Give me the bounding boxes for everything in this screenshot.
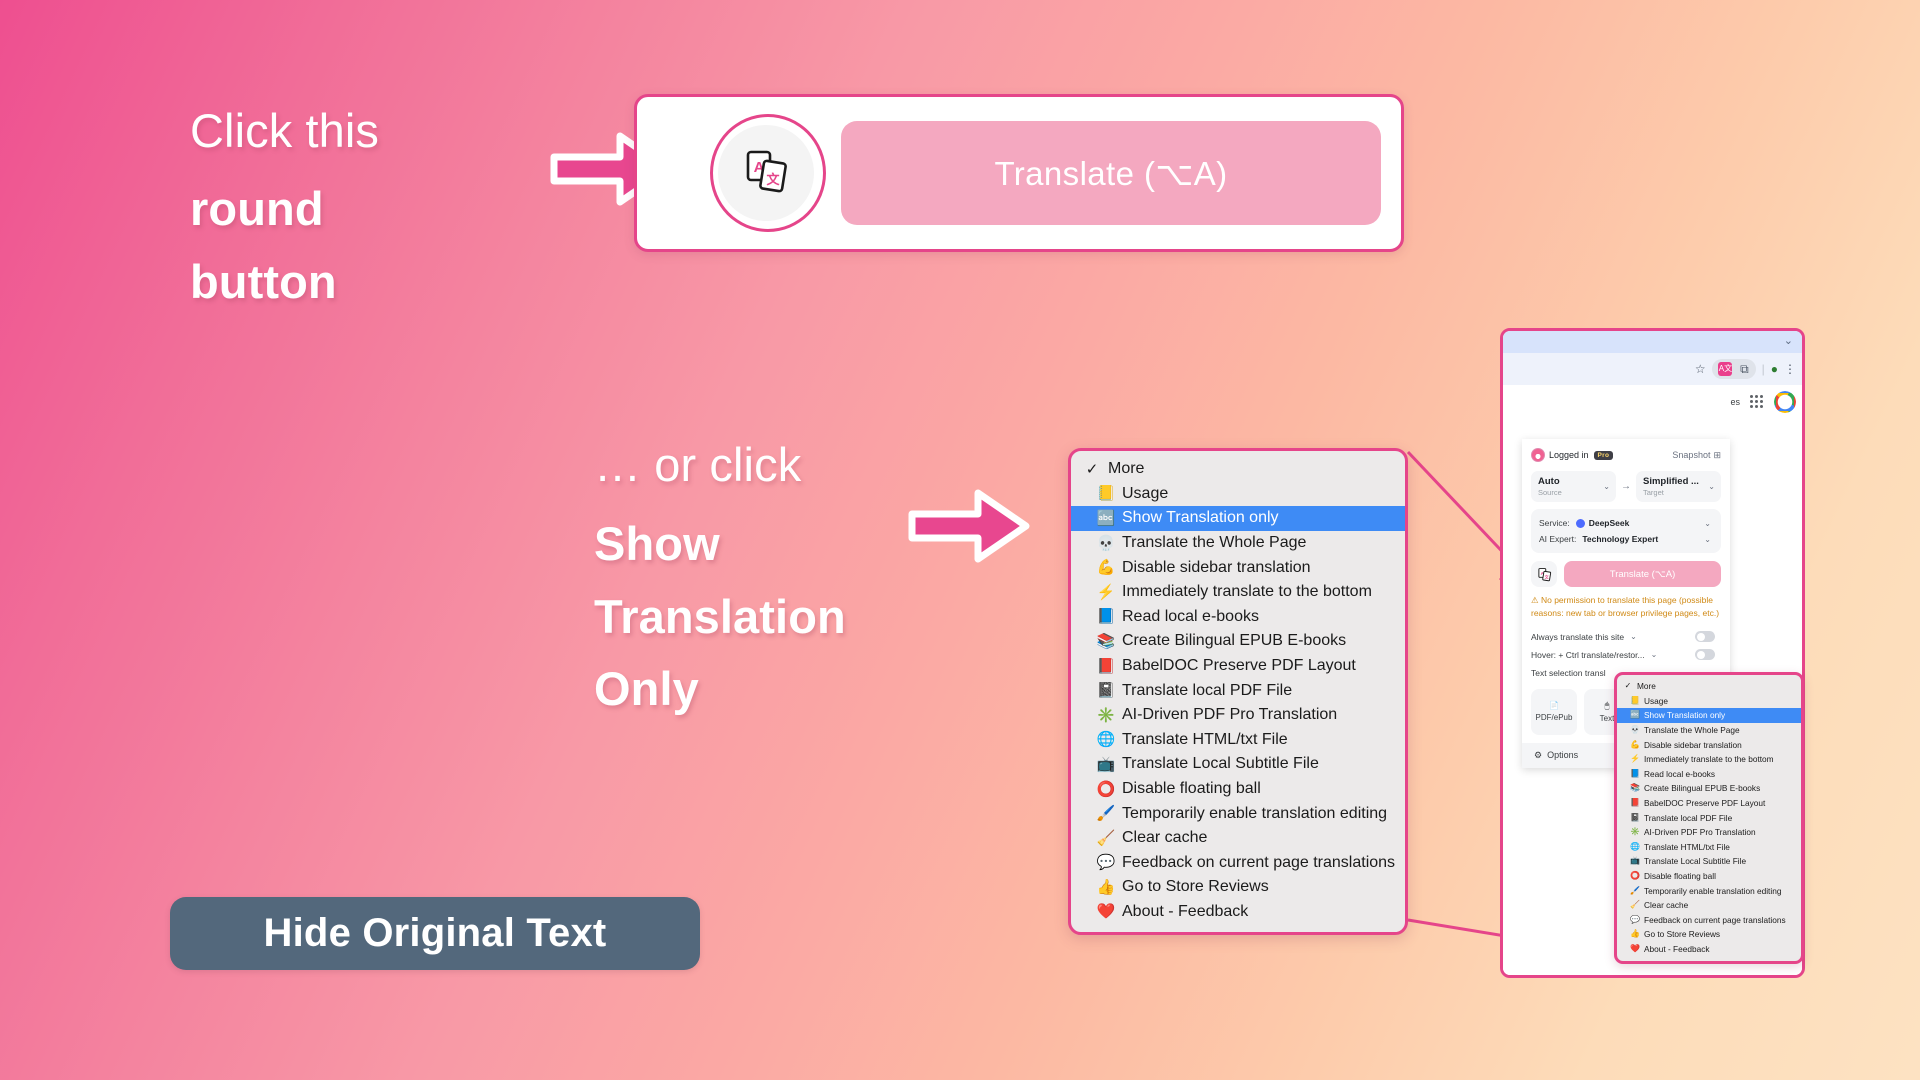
translate-extension-icon[interactable]: A文 [1718,362,1732,376]
avatar [1531,448,1545,462]
hover-translate-toggle[interactable] [1695,649,1715,660]
context-menu-item-12[interactable]: ⭕Disable floating ball [1071,777,1405,802]
menu-item-label: Read local e-books [1122,608,1259,626]
context-menu-item-9[interactable]: ✳️AI-Driven PDF Pro Translation [1071,703,1405,728]
menu-item-icon: 📚 [1629,784,1641,792]
text-selection-label: Text selection transl [1531,668,1606,678]
context-menu-item-6[interactable]: 📚Create Bilingual EPUB E-books [1071,629,1405,654]
svg-text:文: 文 [766,172,780,187]
context-menu-mini-item-11[interactable]: 📺Translate Local Subtitle File [1617,854,1801,869]
context-menu-item-13[interactable]: 🖌️Temporarily enable translation editing [1071,801,1405,826]
context-menu-mini-item-15[interactable]: 💬Feedback on current page translations [1617,913,1801,928]
menu-item-icon: 🧹 [1095,831,1117,846]
callout-one: Click this round button [190,106,379,307]
menu-item-label: BabelDOC Preserve PDF Layout [1122,657,1356,675]
context-menu-mini-item-1[interactable]: 🔤Show Translation only [1617,708,1801,723]
show-translation-round-button[interactable]: A 文 [718,125,814,221]
pdf-epub-label: PDF/ePub [1536,713,1573,722]
permission-warning-text: ⚠ No permission to translate this page (… [1531,594,1721,620]
ai-expert-value: Technology Expert [1582,534,1658,544]
target-language-label: Target [1643,488,1714,497]
chevron-down-icon: ⌄ [1708,482,1715,491]
menu-item-label: Show Translation only [1122,509,1279,527]
ai-expert-key: AI Expert: [1539,534,1576,544]
extension-pill[interactable]: A文 ⧉ [1712,359,1756,379]
menu-item-icon: 💬 [1095,855,1117,870]
menu-item-icon: 💀 [1095,536,1117,551]
context-menu-mini-item-6[interactable]: 📚Create Bilingual EPUB E-books [1617,781,1801,796]
context-menu-mini-item-5[interactable]: 📘Read local e-books [1617,767,1801,782]
gear-icon: ⚙ [1534,750,1542,761]
google-account-circle[interactable] [1774,391,1796,413]
source-language-label: Source [1538,488,1609,497]
menu-item-icon: 💪 [1629,741,1641,749]
menu-item-icon: ✳️ [1095,708,1117,723]
chevron-down-icon[interactable]: ⌄ [1784,334,1793,347]
popup-translate-row: A 文 Translate (⌥A) [1531,561,1721,587]
translate-icon: A 文 [742,147,790,200]
target-language-value: Simplified ... [1643,476,1714,487]
service-settings-box: Service: DeepSeek ⌄ AI Expert: Technolog… [1531,509,1721,553]
menu-item-icon: ⚡ [1095,585,1117,600]
context-menu-mini-item-16[interactable]: 👍Go to Store Reviews [1617,927,1801,942]
menu-item-label: Go to Store Reviews [1644,929,1720,939]
puzzle-icon[interactable]: ⧉ [1740,363,1749,375]
callout-two: … or click Show Translation Only [594,440,846,715]
check-icon: ✓ [1622,682,1634,690]
browser-toolbar: ☆ A文 ⧉ | ● ⋮ [1503,353,1802,385]
chevron-down-icon: ⌄ [1651,650,1658,659]
browser-titlebar: ⌄ [1503,331,1802,353]
service-key: Service: [1539,518,1570,528]
callout-one-line2: round [190,184,379,235]
chevron-down-icon: ⌄ [1603,482,1610,491]
service-value: DeepSeek [1589,518,1630,528]
menu-item-label: Create Bilingual EPUB E-books [1122,632,1346,650]
menu-item-label: Translate Local Subtitle File [1122,755,1319,773]
menu-item-icon: 📒 [1095,486,1117,501]
context-menu-item-16[interactable]: 👍Go to Store Reviews [1071,875,1405,900]
source-language-select[interactable]: Auto Source ⌄ [1531,471,1616,502]
menu-item-label: Immediately translate to the bottom [1644,754,1774,764]
context-menu-mini-item-2[interactable]: 💀Translate the Whole Page [1617,723,1801,738]
menu-item-icon: 👍 [1629,930,1641,938]
context-menu-mini-header: ✓ More [1617,679,1801,694]
context-menu-mini-item-8[interactable]: 📓Translate local PDF File [1617,810,1801,825]
page-label: es [1730,397,1740,407]
callout-one-line3: button [190,257,379,308]
service-select[interactable]: Service: DeepSeek ⌄ [1539,515,1713,531]
context-menu-item-17[interactable]: ❤️About - Feedback [1071,900,1405,925]
menu-item-label: BabelDOC Preserve PDF Layout [1644,798,1765,808]
chevron-down-icon: ⌄ [1630,632,1637,641]
translate-icon: A 文 [1537,567,1552,582]
chevron-down-icon: ⌄ [1704,535,1711,544]
menu-item-label: Feedback on current page translations [1122,854,1395,872]
menu-item-label: Temporarily enable translation editing [1644,886,1781,896]
overflow-menu-icon[interactable]: ⋮ [1784,363,1796,375]
hide-original-text-pill: Hide Original Text [170,897,700,970]
translate-toolbar-card: A 文 Translate (⌥A) [634,94,1404,252]
options-label: Options [1547,750,1578,760]
menu-item-label: Temporarily enable translation editing [1122,805,1387,823]
round-button-wrapper: A 文 [707,114,825,232]
menu-item-icon: 💀 [1629,726,1641,734]
menu-item-icon: 📺 [1629,857,1641,865]
bookmark-star-icon[interactable]: ☆ [1695,363,1706,375]
apps-grid-icon[interactable] [1750,395,1764,409]
context-menu-header-label: More [1108,460,1144,478]
context-menu-item-0[interactable]: 📒Usage [1071,482,1405,507]
menu-item-label: Clear cache [1122,829,1207,847]
hover-translate-row[interactable]: Hover: + Ctrl translate/restor... ⌄ [1531,646,1721,664]
menu-item-label: Read local e-books [1644,769,1715,779]
always-translate-toggle[interactable] [1695,631,1715,642]
page-header-right: es [1730,391,1796,413]
context-menu-mini-item-0[interactable]: 📒Usage [1617,694,1801,709]
ai-expert-select[interactable]: AI Expert: Technology Expert ⌄ [1539,531,1713,547]
callout-two-line2: Show [594,519,846,570]
profile-icon[interactable]: ● [1771,363,1778,375]
menu-item-icon: 📕 [1629,799,1641,807]
context-menu-mini-item-9[interactable]: ✳️AI-Driven PDF Pro Translation [1617,825,1801,840]
menu-item-label: Immediately translate to the bottom [1122,583,1372,601]
pointer-arrow-two [910,490,1028,562]
menu-item-icon: 💪 [1095,560,1117,575]
menu-item-label: Go to Store Reviews [1122,878,1269,896]
context-menu-item-1[interactable]: 🔤Show Translation only [1071,506,1405,531]
context-menu-item-2[interactable]: 💀Translate the Whole Page [1071,531,1405,556]
context-menu-mini-item-4[interactable]: ⚡Immediately translate to the bottom [1617,752,1801,767]
menu-item-label: Usage [1644,696,1668,706]
snapshot-icon: ⊞ [1713,450,1721,461]
menu-item-icon: ✳️ [1629,828,1641,836]
chevron-down-icon: ⌄ [1704,519,1711,528]
context-menu-item-7[interactable]: 📕BabelDOC Preserve PDF Layout [1071,654,1405,679]
snapshot-button[interactable]: Snapshot ⊞ [1672,450,1721,461]
menu-item-label: Translate Local Subtitle File [1644,856,1746,866]
context-menu-items: 📒Usage🔤Show Translation only💀Translate t… [1071,482,1405,925]
menu-item-label: Translate local PDF File [1122,682,1292,700]
document-icon: 📄 [1549,701,1559,710]
menu-item-icon: 🌐 [1095,732,1117,747]
callout-two-line3: Translation [594,592,846,643]
callout-one-line1: Click this [190,106,379,157]
check-icon: ✓ [1081,462,1103,477]
direction-arrow-icon: → [1621,481,1631,492]
menu-item-icon: 💬 [1629,916,1641,924]
context-menu-item-4[interactable]: ⚡Immediately translate to the bottom [1071,580,1405,605]
menu-item-icon: 📕 [1095,659,1117,674]
menu-item-icon: 🔤 [1629,711,1641,719]
menu-item-icon: ⚡ [1629,755,1641,763]
popup-account-row: Logged in Pro Snapshot ⊞ [1531,448,1721,462]
menu-item-icon: 🌐 [1629,843,1641,851]
menu-item-label: Translate HTML/txt File [1122,731,1288,749]
menu-item-label: Feedback on current page translations [1644,915,1786,925]
callout-two-line1: … or click [594,440,846,491]
context-menu-mini-item-17[interactable]: ❤️About - Feedback [1617,942,1801,957]
translate-toolbar-inner: A 文 Translate (⌥A) [645,105,1393,241]
menu-item-label: Translate local PDF File [1644,813,1732,823]
menu-item-label: Disable floating ball [1122,780,1261,798]
menu-item-icon: 📘 [1095,609,1117,624]
menu-item-label: Disable sidebar translation [1122,559,1311,577]
context-menu-mini-item-12[interactable]: ⭕Disable floating ball [1617,869,1801,884]
cursor-icon: 🖱 [1605,701,1610,711]
popup-translate-button[interactable]: Translate (⌥A) [1564,561,1721,587]
context-menu-item-5[interactable]: 📘Read local e-books [1071,605,1405,630]
context-menu-mini-items: 📒Usage🔤Show Translation only💀Translate t… [1617,694,1801,957]
menu-item-label: Disable floating ball [1644,871,1716,881]
translate-button[interactable]: Translate (⌥A) [841,121,1381,225]
menu-item-icon: ❤️ [1095,904,1117,919]
menu-item-icon: 🔤 [1095,511,1117,526]
menu-item-label: AI-Driven PDF Pro Translation [1644,827,1756,837]
deepseek-icon [1576,519,1585,528]
context-menu-mini-item-13[interactable]: 🖌️Temporarily enable translation editing [1617,883,1801,898]
menu-item-label: Translate the Whole Page [1122,534,1306,552]
context-menu-mini-item-7[interactable]: 📕BabelDOC Preserve PDF Layout [1617,796,1801,811]
menu-item-label: Disable sidebar translation [1644,740,1742,750]
context-menu-mini-header-label: More [1637,681,1656,691]
context-menu-header: ✓ More [1071,457,1405,482]
menu-item-icon: ⭕ [1095,782,1117,797]
menu-item-icon: 📒 [1629,697,1641,705]
target-language-select[interactable]: Simplified ... Target ⌄ [1636,471,1721,502]
menu-item-label: Show Translation only [1644,710,1725,720]
menu-item-label: Create Bilingual EPUB E-books [1644,783,1760,793]
language-selector-row: Auto Source ⌄ → Simplified ... Target ⌄ [1531,471,1721,502]
callout-two-line4: Only [594,664,846,715]
menu-item-icon: 📓 [1095,683,1117,698]
hide-original-text-label: Hide Original Text [264,911,607,956]
menu-item-icon: 📚 [1095,634,1117,649]
menu-item-icon: 📓 [1629,814,1641,822]
menu-item-icon: ⭕ [1629,872,1641,880]
context-menu-item-11[interactable]: 📺Translate Local Subtitle File [1071,752,1405,777]
menu-item-icon: 🧹 [1629,901,1641,909]
pdf-epub-tile[interactable]: 📄 PDF/ePub [1531,689,1577,735]
menu-item-icon: 📺 [1095,757,1117,772]
source-language-value: Auto [1538,476,1609,487]
menu-item-label: AI-Driven PDF Pro Translation [1122,706,1337,724]
context-menu-item-3[interactable]: 💪Disable sidebar translation [1071,555,1405,580]
menu-item-label: Clear cache [1644,900,1688,910]
menu-item-label: Translate HTML/txt File [1644,842,1730,852]
snapshot-label: Snapshot [1672,450,1710,460]
context-menu-mini[interactable]: ✓ More 📒Usage🔤Show Translation only💀Tran… [1614,672,1804,964]
menu-item-icon: ❤️ [1629,945,1641,953]
menu-item-label: Usage [1122,485,1168,503]
menu-item-label: Translate the Whole Page [1644,725,1740,735]
context-menu-mini-item-14[interactable]: 🧹Clear cache [1617,898,1801,913]
context-menu-item-14[interactable]: 🧹Clear cache [1071,826,1405,851]
menu-item-label: About - Feedback [1644,944,1710,954]
poster-canvas: Click this round button A 文 [0,0,1920,1080]
always-translate-label: Always translate this site [1531,632,1624,642]
menu-item-icon: 📘 [1629,770,1641,778]
text-tile-label: Text [1600,714,1615,723]
menu-item-label: About - Feedback [1122,903,1248,921]
menu-item-icon: 🖌️ [1629,887,1641,895]
context-menu-item-8[interactable]: 📓Translate local PDF File [1071,678,1405,703]
context-menu-mini-item-3[interactable]: 💪Disable sidebar translation [1617,737,1801,752]
show-translation-round-button-small[interactable]: A 文 [1531,561,1557,587]
context-menu-item-15[interactable]: 💬Feedback on current page translations [1071,851,1405,876]
account-status-label: Logged in [1549,450,1589,460]
context-menu-mini-item-10[interactable]: 🌐Translate HTML/txt File [1617,840,1801,855]
menu-item-icon: 👍 [1095,880,1117,895]
pro-badge: Pro [1594,451,1614,460]
menu-item-icon: 🖌️ [1095,806,1117,821]
hover-translate-label: Hover: + Ctrl translate/restor... [1531,650,1645,660]
context-menu-item-10[interactable]: 🌐Translate HTML/txt File [1071,728,1405,753]
context-menu[interactable]: ✓ More 📒Usage🔤Show Translation only💀Tran… [1068,448,1408,935]
always-translate-row[interactable]: Always translate this site ⌄ [1531,628,1721,646]
